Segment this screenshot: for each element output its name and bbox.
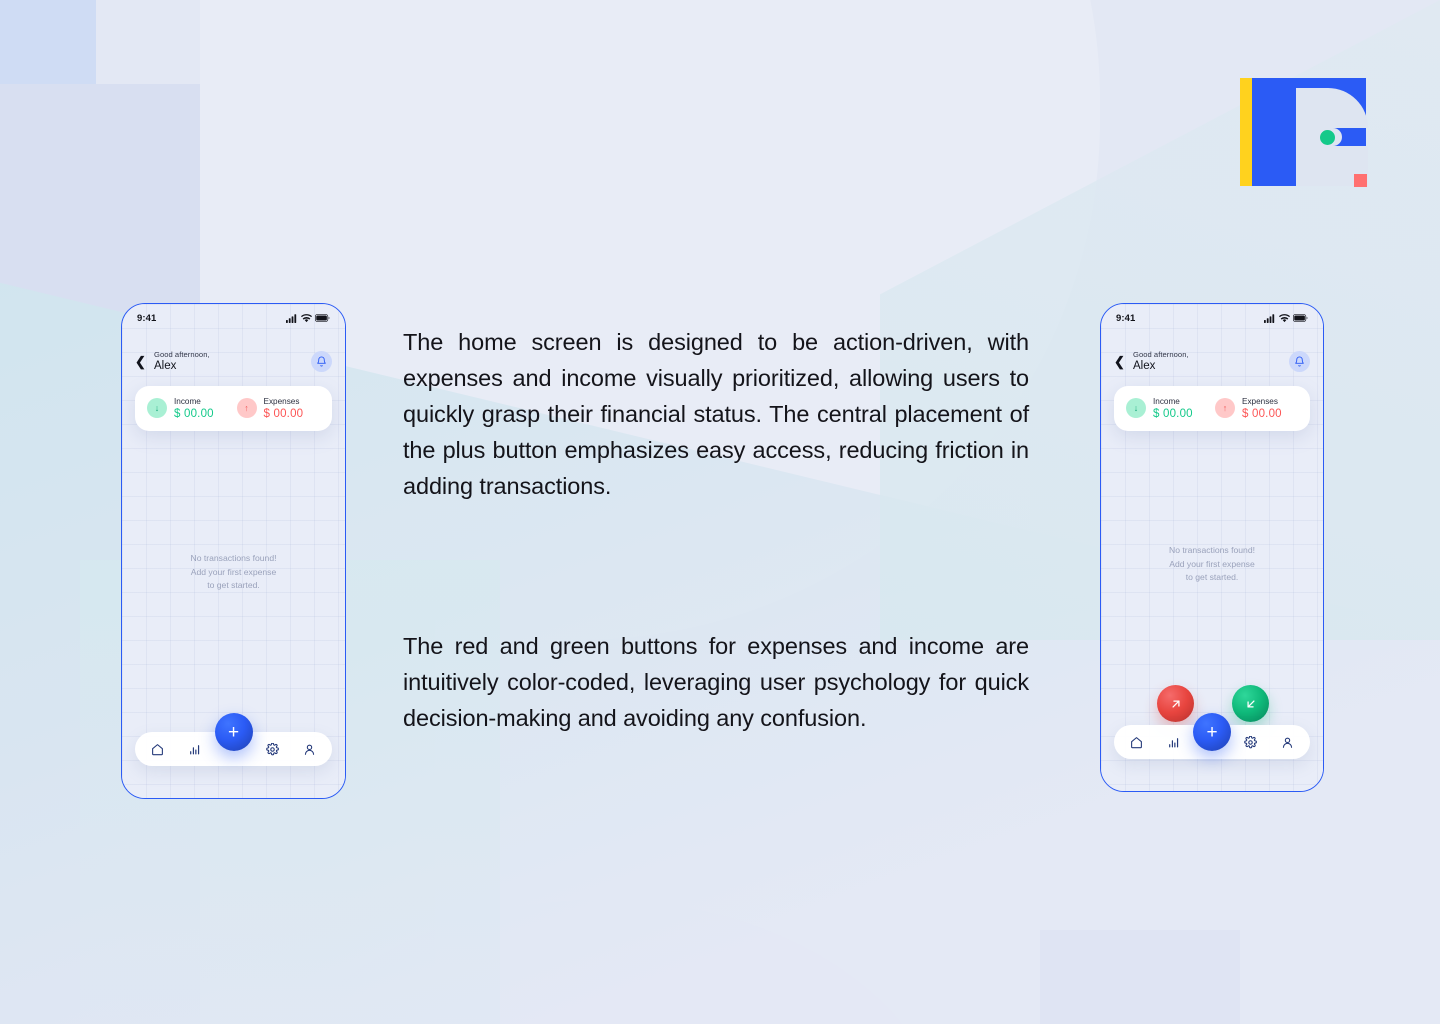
bar-chart-icon [1167, 736, 1180, 749]
logo-counter-top [1296, 88, 1368, 128]
summary-item-expenses[interactable]: ↑ Expenses $ 00.00 [1215, 397, 1298, 420]
description-paragraph-1: The home screen is designed to be action… [403, 324, 1029, 504]
add-transaction-fab[interactable]: + [1193, 713, 1231, 751]
summary-item-income[interactable]: ↓ Income $ 00.00 [147, 397, 231, 420]
notification-button[interactable] [311, 351, 332, 372]
user-name: Alex [1133, 360, 1289, 372]
arrow-up-icon: ↑ [1215, 398, 1235, 418]
wifi-icon [1279, 314, 1290, 323]
bell-icon [1294, 356, 1305, 367]
logo-counter-mid [1296, 128, 1342, 146]
nav-group-right [1244, 736, 1294, 749]
empty-line-2: Add your first expense [1101, 558, 1323, 572]
income-label: Income [174, 397, 214, 406]
home-icon [151, 743, 164, 756]
gear-icon [1244, 736, 1257, 749]
nav-item-stats[interactable] [1167, 736, 1180, 749]
nav-group-left [151, 743, 201, 756]
signal-bars-icon [1264, 314, 1276, 323]
summary-item-expenses[interactable]: ↑ Expenses $ 00.00 [237, 397, 321, 420]
nav-item-stats[interactable] [188, 743, 201, 756]
status-time: 9:41 [137, 313, 156, 324]
chevron-left-icon[interactable]: ❮ [135, 355, 145, 368]
quick-action-income[interactable] [1232, 685, 1269, 722]
logo-blue-block [1252, 78, 1366, 186]
chevron-left-icon[interactable]: ❮ [1114, 355, 1124, 368]
quick-action-expense[interactable] [1157, 685, 1194, 722]
empty-line-1: No transactions found! [122, 552, 345, 566]
battery-icon [315, 314, 330, 322]
app-header: ❮ Good afternoon, Alex [122, 344, 345, 378]
arrow-down-left-icon [1244, 697, 1258, 711]
user-name: Alex [154, 360, 311, 372]
nav-item-profile[interactable] [303, 743, 316, 756]
background-rect-top-left [0, 0, 96, 84]
status-icons [1264, 314, 1308, 323]
empty-state: No transactions found! Add your first ex… [122, 552, 345, 593]
greeting-block: Good afternoon, Alex [154, 350, 311, 372]
user-icon [1281, 736, 1294, 749]
greeting-text: Good afternoon, [154, 350, 311, 359]
battery-icon [1293, 314, 1308, 322]
bar-chart-icon [188, 743, 201, 756]
income-value: $ 00.00 [174, 408, 214, 420]
expenses-value: $ 00.00 [1242, 408, 1282, 420]
add-transaction-fab[interactable]: + [215, 713, 253, 751]
status-time: 9:41 [1116, 313, 1135, 324]
user-icon [303, 743, 316, 756]
greeting-block: Good afternoon, Alex [1133, 350, 1289, 372]
notification-button[interactable] [1289, 351, 1310, 372]
greeting-text: Good afternoon, [1133, 350, 1289, 359]
expenses-label: Expenses [264, 397, 304, 406]
arrow-down-icon: ↓ [1126, 398, 1146, 418]
paragraph-2-text: The red and green buttons for expenses a… [403, 628, 1029, 736]
empty-line-1: No transactions found! [1101, 544, 1323, 558]
paragraph-1-text: The home screen is designed to be action… [403, 324, 1029, 504]
gear-icon [266, 743, 279, 756]
nav-item-home[interactable] [1130, 736, 1143, 749]
status-icons [286, 314, 330, 323]
nav-group-left [1130, 736, 1180, 749]
app-header: ❮ Good afternoon, Alex [1101, 344, 1323, 378]
signal-bars-icon [286, 314, 298, 323]
plus-icon: + [228, 723, 239, 742]
empty-line-3: to get started. [122, 579, 345, 593]
phone-mockup-right: 9:41 ❮ Good afternoon, Alex [1100, 303, 1324, 792]
fp-monogram-logo [1240, 78, 1366, 190]
background-rect-bottom-right [1040, 930, 1240, 1024]
logo-green-dot [1320, 130, 1335, 145]
bell-icon [316, 356, 327, 367]
status-bar: 9:41 [1101, 304, 1323, 332]
income-label: Income [1153, 397, 1193, 406]
home-icon [1130, 736, 1143, 749]
nav-item-settings[interactable] [1244, 736, 1257, 749]
empty-state: No transactions found! Add your first ex… [1101, 544, 1323, 585]
empty-line-3: to get started. [1101, 571, 1323, 585]
nav-item-settings[interactable] [266, 743, 279, 756]
nav-item-profile[interactable] [1281, 736, 1294, 749]
wifi-icon [301, 314, 312, 323]
description-paragraph-2: The red and green buttons for expenses a… [403, 628, 1029, 736]
empty-line-2: Add your first expense [122, 566, 345, 580]
income-value: $ 00.00 [1153, 408, 1193, 420]
arrow-down-icon: ↓ [147, 398, 167, 418]
plus-icon: + [1206, 723, 1217, 742]
arrow-up-icon: ↑ [237, 398, 257, 418]
status-bar: 9:41 [122, 304, 345, 332]
expenses-label: Expenses [1242, 397, 1282, 406]
summary-card: ↓ Income $ 00.00 ↑ Expenses $ 00.00 [1114, 386, 1310, 431]
phone-mockup-left: 9:41 ❮ Good afternoon, Alex [121, 303, 346, 799]
logo-red-square [1354, 174, 1367, 187]
nav-item-home[interactable] [151, 743, 164, 756]
summary-item-income[interactable]: ↓ Income $ 00.00 [1126, 397, 1209, 420]
summary-card: ↓ Income $ 00.00 ↑ Expenses $ 00.00 [135, 386, 332, 431]
nav-group-right [266, 743, 316, 756]
arrow-up-right-icon [1169, 697, 1183, 711]
expenses-value: $ 00.00 [264, 408, 304, 420]
